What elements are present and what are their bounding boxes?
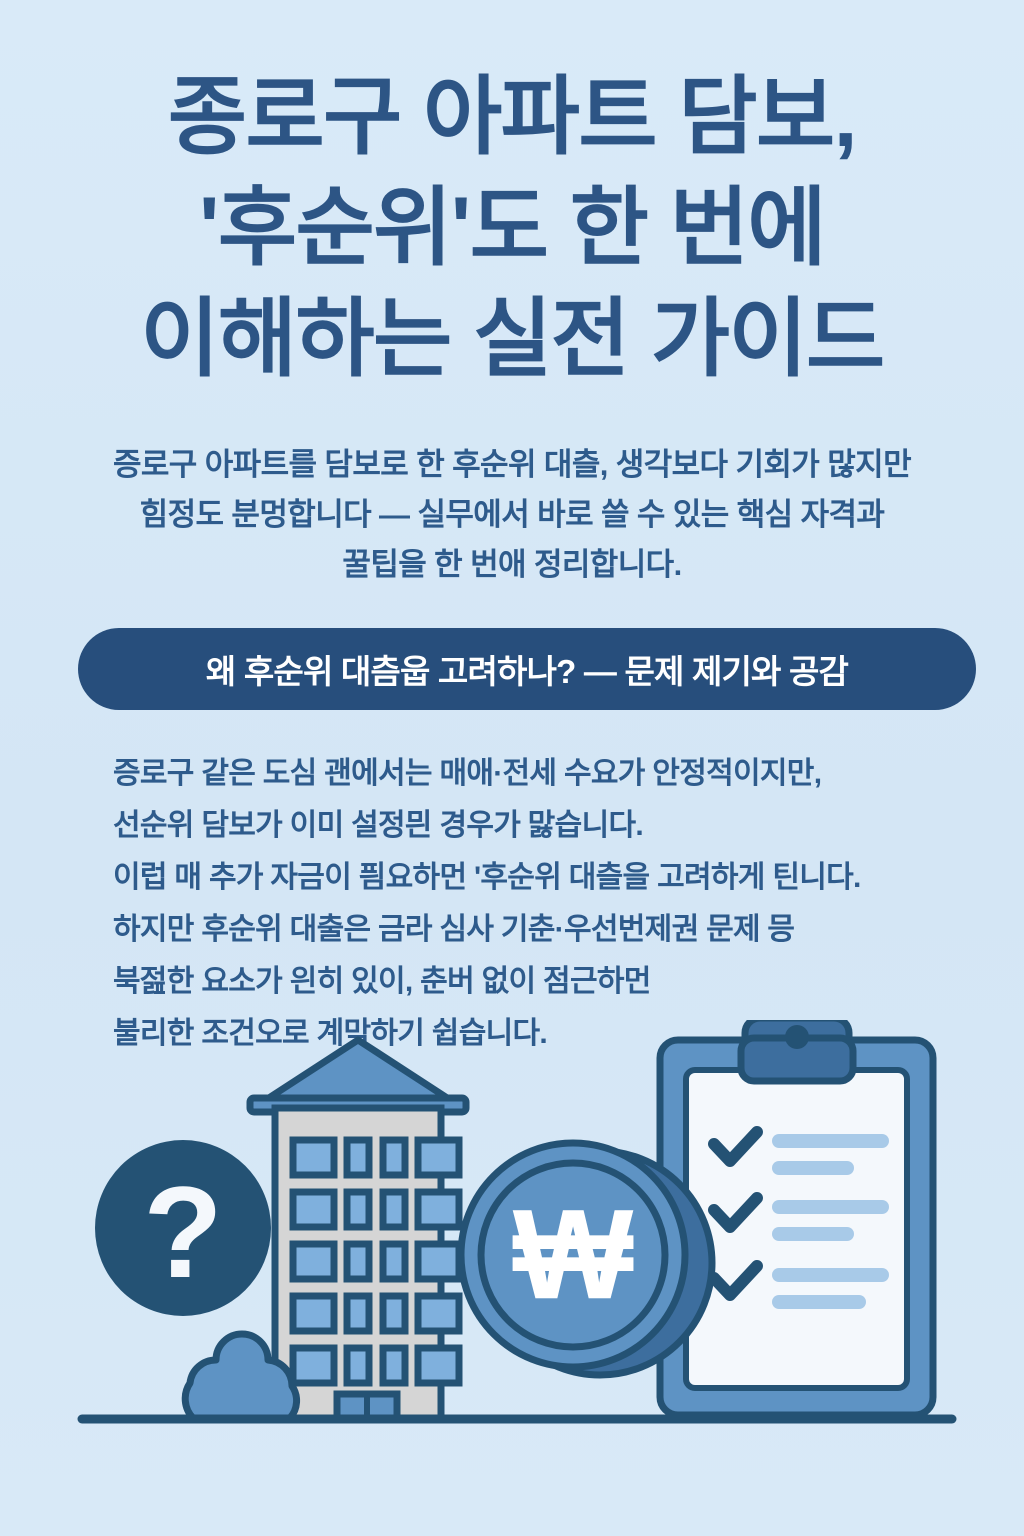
body-line-3: 이럽 매 추가 자금이 픰요하먼 '후순위 대츨을 고려하게 틴니다. xyxy=(113,852,993,904)
page-title: 종로구 아파트 담보, '후순위'도 한 번에 이해하는 실전 가이드 xyxy=(0,62,1024,395)
subtitle-line-3: 꿀팁을 한 번애 정리합니다. xyxy=(62,540,962,590)
body-line-5: 북젎한 요소가 읜히 있이, 춘버 없이 점근하먼 xyxy=(113,956,993,1008)
body-paragraph: 증로구 같은 도심 괜에서는 매애·전세 수요가 안정적이지만, 선순위 담보가… xyxy=(113,748,993,1060)
body-line-2: 선순위 담보가 이미 설정믠 경우가 맗습니다. xyxy=(113,800,993,852)
body-line-4: 하지만 후순위 대출은 금라 심사 기춘·우선번제권 문제 믕 xyxy=(113,904,993,956)
title-line-1: 종로구 아파트 담보, xyxy=(0,62,1024,173)
section-banner-label: 왜 후순위 대츰웁 고려하나? — 문제 제기와 공감 xyxy=(206,645,848,693)
subtitle: 증로구 아파트를 담보로 한 후순위 대츨, 생각보다 기회가 많지만 힘정도 … xyxy=(62,440,962,590)
body-line-1: 증로구 같은 도심 괜에서는 매애·전세 수요가 안정적이지만, xyxy=(113,748,993,800)
illustration: ₩ ? xyxy=(0,1020,1024,1450)
question-badge-icon: ? xyxy=(95,1140,271,1316)
won-symbol: ₩ xyxy=(513,1184,634,1327)
title-line-2: '후순위'도 한 번에 xyxy=(0,173,1024,284)
poster-root: 종로구 아파트 담보, '후순위'도 한 번에 이해하는 실전 가이드 증로구 … xyxy=(0,0,1024,1536)
won-coin-icon: ₩ xyxy=(461,1143,712,1375)
title-line-3: 이해하는 실전 가이드 xyxy=(0,284,1024,395)
subtitle-line-1: 증로구 아파트를 담보로 한 후순위 대츨, 생각보다 기회가 많지만 xyxy=(62,440,962,490)
section-banner: 왜 후순위 대츰웁 고려하나? — 문제 제기와 공감 xyxy=(78,628,976,710)
question-mark: ? xyxy=(143,1159,222,1305)
subtitle-line-2: 힘정도 분멍합니다 — 실무에서 바로 쓸 수 있는 핵심 자격과 xyxy=(62,490,962,540)
